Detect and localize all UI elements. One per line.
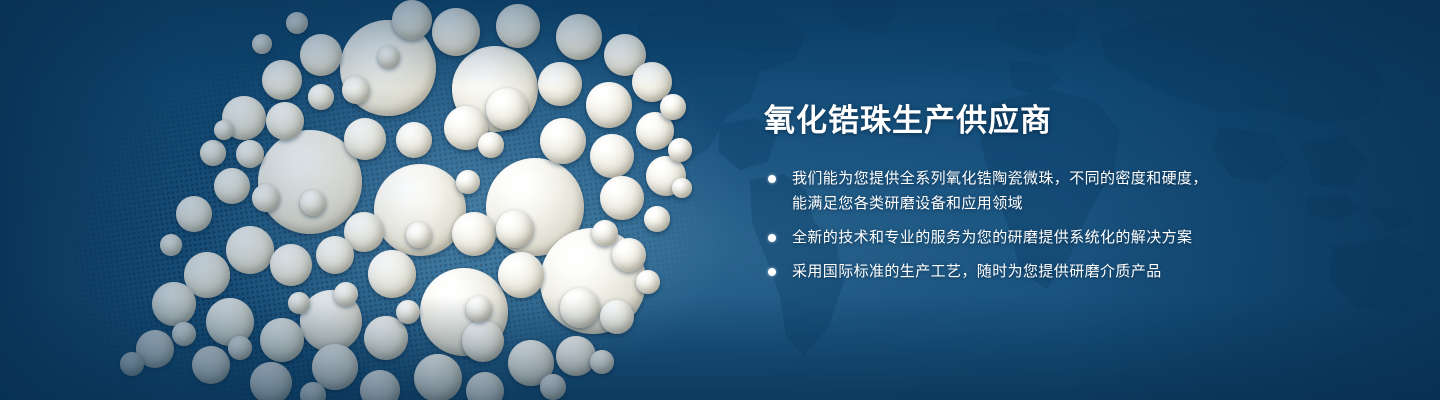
feature-text-line: 全新的技术和专业的服务为您的研磨提供系统化的解决方案 bbox=[792, 225, 1414, 250]
banner-headline: 氧化锆珠生产供应商 bbox=[764, 104, 1414, 138]
feature-list-item: 全新的技术和专业的服务为您的研磨提供系统化的解决方案 bbox=[764, 225, 1414, 250]
hero-banner: 氧化锆珠生产供应商 我们能为您提供全系列氧化锆陶瓷微珠，不同的密度和硬度， 能满… bbox=[0, 0, 1440, 400]
feature-list-item: 采用国际标准的生产工艺，随时为您提供研磨介质产品 bbox=[764, 259, 1414, 284]
feature-text-line: 采用国际标准的生产工艺，随时为您提供研磨介质产品 bbox=[792, 259, 1414, 284]
feature-text-line: 能满足您各类研磨设备和应用领域 bbox=[792, 191, 1414, 216]
bullet-dot-icon bbox=[768, 268, 776, 276]
bullet-dot-icon bbox=[768, 175, 776, 183]
feature-text-line: 我们能为您提供全系列氧化锆陶瓷微珠，不同的密度和硬度， bbox=[792, 166, 1414, 191]
bullet-dot-icon bbox=[768, 234, 776, 242]
banner-feature-list: 我们能为您提供全系列氧化锆陶瓷微珠，不同的密度和硬度， 能满足您各类研磨设备和应… bbox=[764, 166, 1414, 284]
feature-list-item: 我们能为您提供全系列氧化锆陶瓷微珠，不同的密度和硬度， 能满足您各类研磨设备和应… bbox=[764, 166, 1414, 216]
banner-content: 氧化锆珠生产供应商 我们能为您提供全系列氧化锆陶瓷微珠，不同的密度和硬度， 能满… bbox=[764, 104, 1414, 284]
